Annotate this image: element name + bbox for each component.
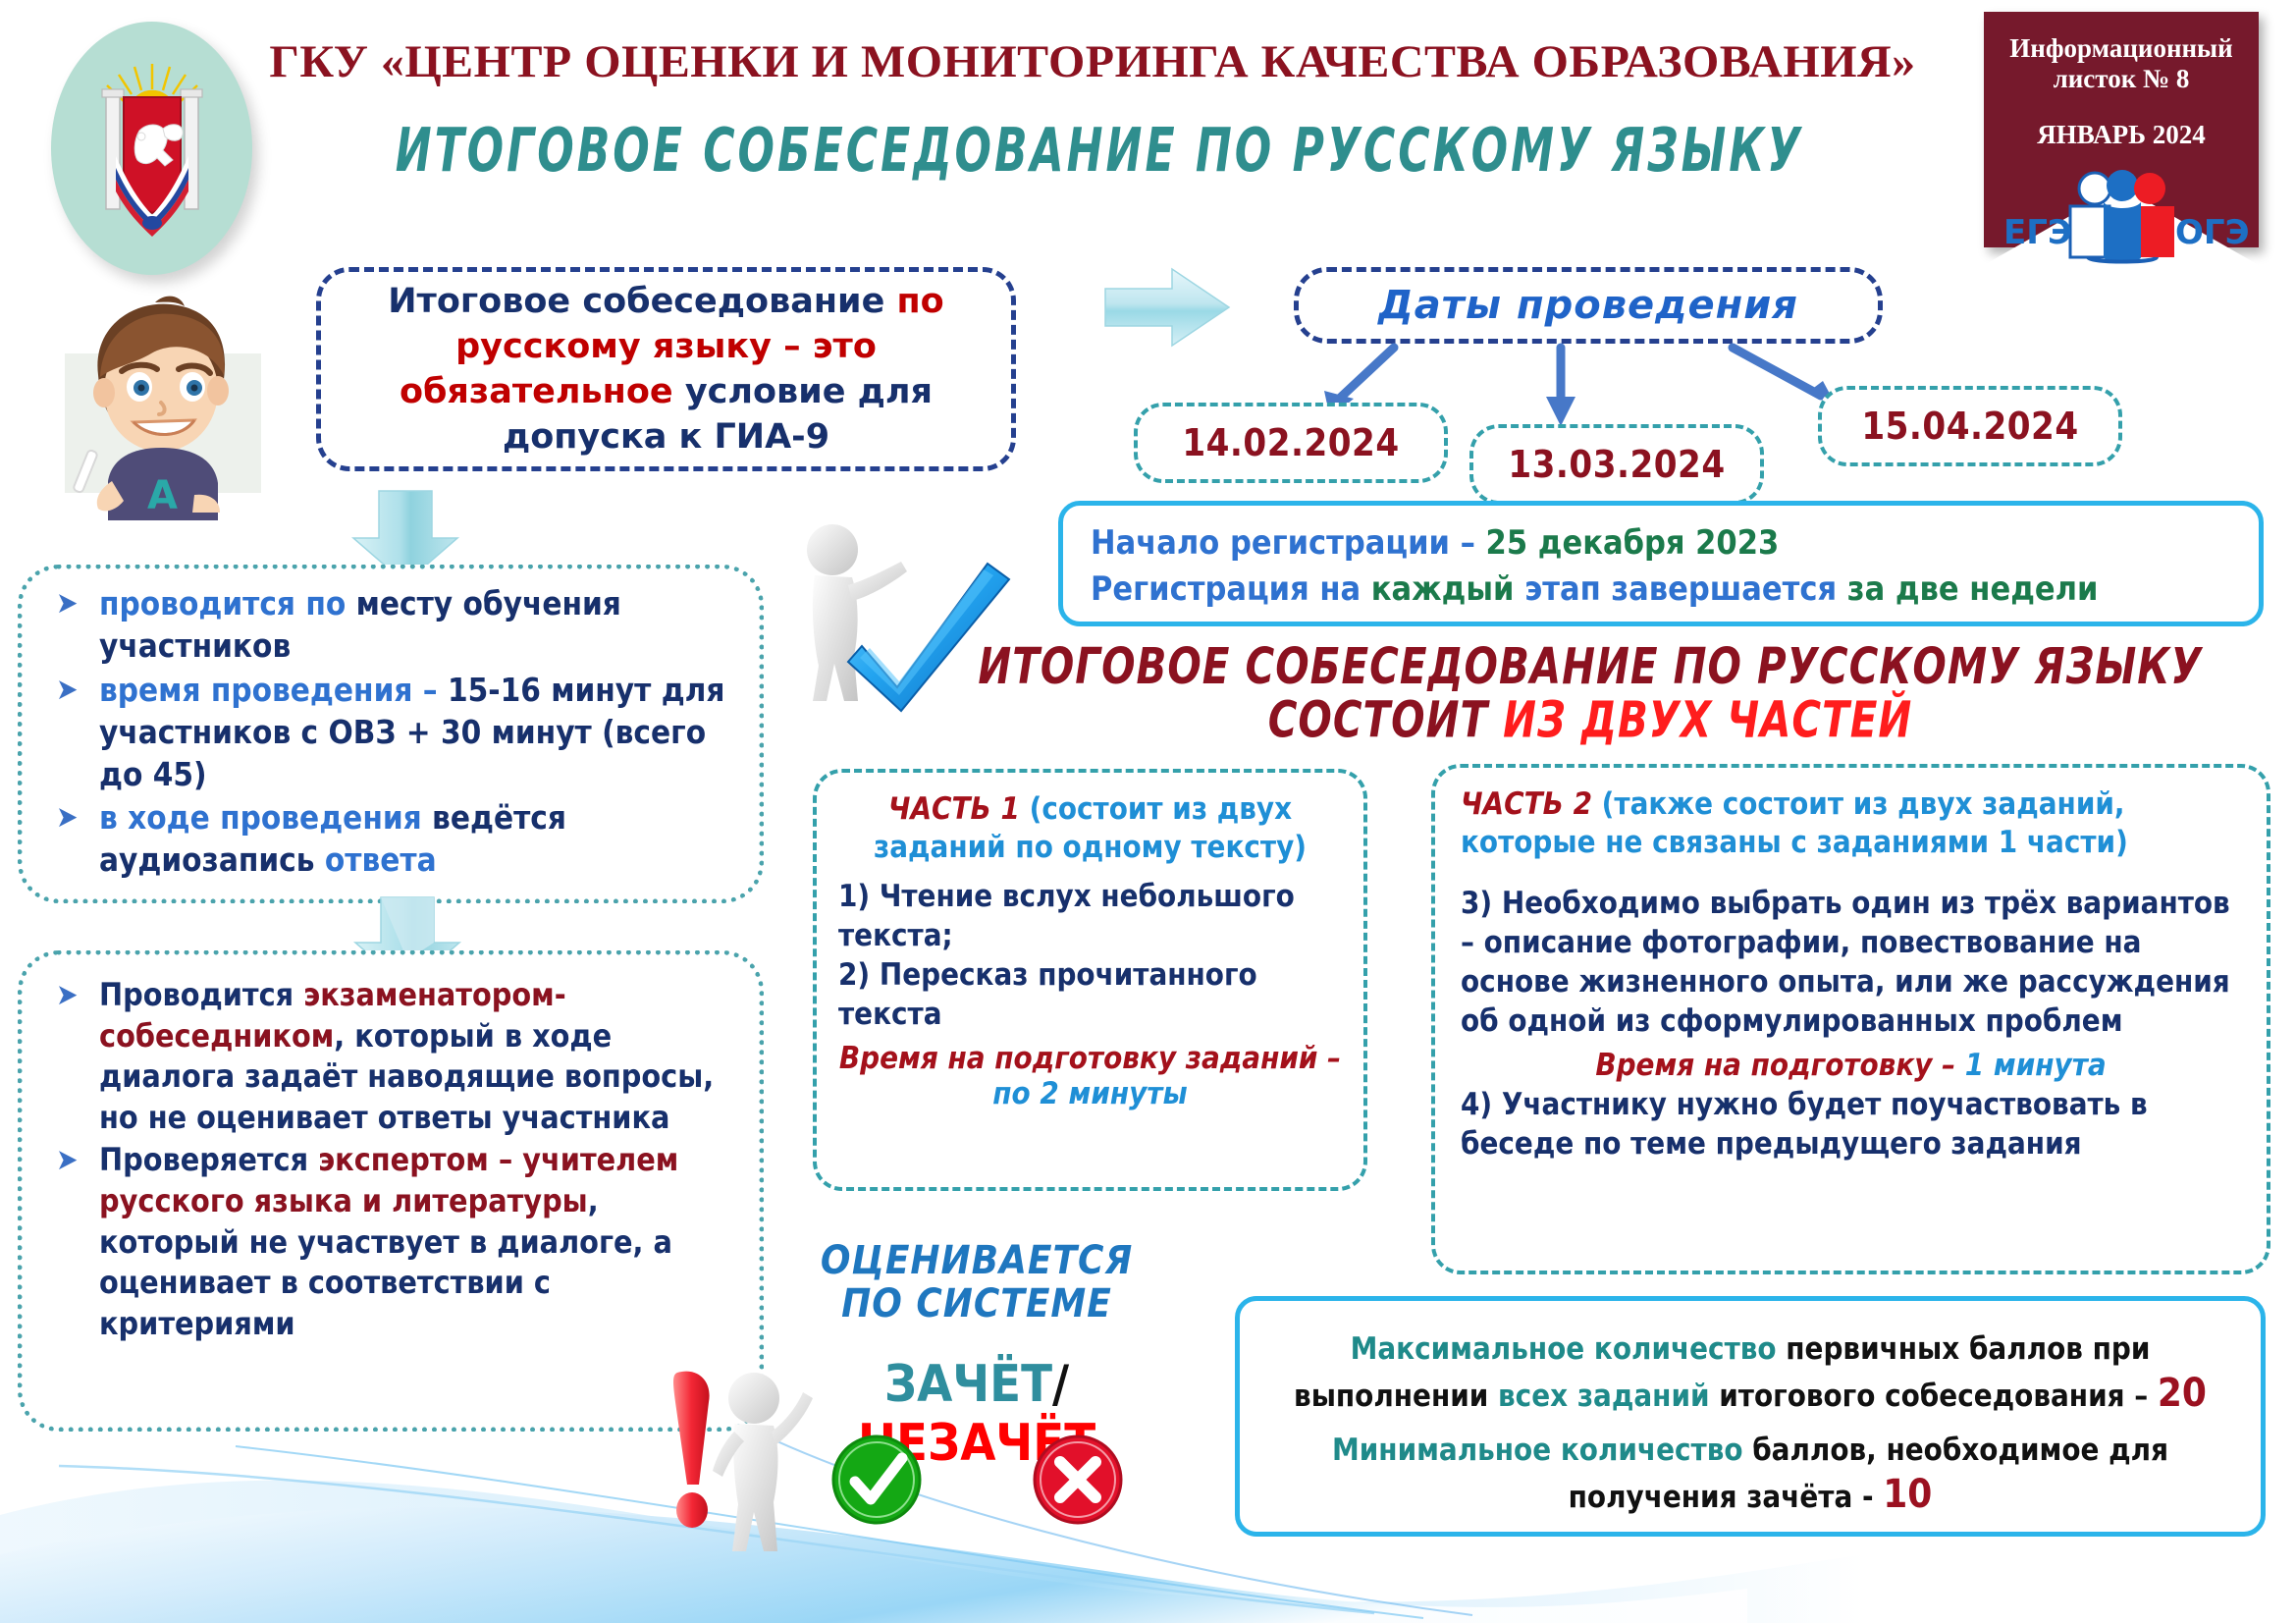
date-chip-2: 13.03.2024 [1469, 424, 1764, 505]
check-circle-icon [828, 1431, 926, 1529]
poster-root: ГКУ «ЦЕНТР ОЦЕНКИ И МОНИТОРИНГА КАЧЕСТВА… [0, 0, 2296, 1623]
list-item: ➤ время проведения – 15-16 минут для уча… [38, 670, 739, 796]
organization-title: ГКУ «ЦЕНТР ОЦЕНКИ И МОНИТОРИНГА КАЧЕСТВА… [246, 35, 1939, 88]
part2-body2: 4) Участнику нужно будет поучаствовать в… [1461, 1085, 2241, 1164]
condition-3-c: ответа [325, 840, 437, 879]
bullet-arrow-icon: ➤ [56, 976, 79, 1014]
part1-box: ЧАСТЬ 1 (состоит из двух заданий по одно… [813, 769, 1367, 1191]
right-arrow-icon [1099, 263, 1237, 352]
section-two-heading: ИТОГОВОЕ СОБЕСЕДОВАНИЕ ПО РУССКОМУ ЯЗЫКУ… [942, 640, 2238, 747]
date-value-1: 14.02.2024 [1182, 421, 1399, 464]
part2-time-a: Время на подготовку – [1595, 1048, 1964, 1083]
banner-line1: Информационный [2009, 33, 2232, 63]
reg-line1-b: 25 декабря 2023 [1486, 523, 1780, 563]
part2-title-a: ЧАСТЬ 2 [1461, 786, 1592, 822]
banner-line3: ЯНВАРЬ 2024 [1984, 120, 2259, 150]
poster-subtitle: ИТОГОВОЕ СОБЕСЕДОВАНИЕ ПО РУССКОМУ ЯЗЫКУ [294, 116, 1904, 186]
oge-label: ОГЭ [2175, 213, 2250, 252]
date-value-3: 15.04.2024 [1861, 405, 2078, 448]
assessment-separator: / [1052, 1355, 1069, 1414]
examiner-1-a: Проводится [99, 976, 303, 1013]
list-item: ➤ Проверяется экспертом – учителем русск… [38, 1140, 739, 1344]
crimea-emblem-icon [51, 22, 252, 275]
bullet-arrow-icon: ➤ [56, 584, 79, 622]
intro-text-a: Итоговое собеседование [388, 282, 896, 321]
svg-text:А: А [147, 473, 178, 518]
condition-2-a: время проведения – [99, 671, 448, 709]
ege-oge-logo-icon: ЕГЭ ОГЭ [1994, 159, 2251, 267]
bullet-arrow-icon: ➤ [56, 671, 79, 709]
part2-body: 3) Необходимо выбрать один из трёх вариа… [1461, 884, 2241, 1042]
bullet-arrow-icon: ➤ [56, 798, 79, 837]
part2-box: ЧАСТЬ 2 (также состоит из двух заданий, … [1431, 764, 2270, 1274]
reg-line2-a: Регистрация на [1091, 569, 1371, 609]
banner-line2: листок № 8 [2054, 64, 2190, 93]
student-boy-illustration: А [37, 285, 297, 545]
date-chip-1: 14.02.2024 [1134, 403, 1448, 483]
part1-body: 1) Чтение вслух небольшого текста; 2) Пе… [838, 877, 1342, 1035]
intro-box: Итоговое собеседование по русскому языку… [316, 267, 1016, 471]
dates-title: Даты проведения [1378, 283, 1798, 328]
conditions-box: ➤ проводится по месту обучения участнико… [18, 565, 764, 903]
examiner-2-a: Проверяется [99, 1141, 318, 1178]
score-box: Максимальное количество первичных баллов… [1235, 1296, 2266, 1537]
date-value-2: 13.03.2024 [1508, 443, 1725, 486]
reg-line2-d: за две недели [1847, 569, 2099, 609]
cross-circle-icon [1029, 1431, 1127, 1529]
score-max-d: итогового собеседования – [1710, 1379, 2158, 1414]
ege-label: ЕГЭ [2003, 213, 2072, 252]
assessment-pass-label: ЗАЧЁТ [884, 1355, 1052, 1414]
assessment-icons [775, 1426, 1178, 1534]
list-item: ➤ в ходе проведения ведётся аудиозапись … [38, 797, 739, 882]
date-chip-3: 15.04.2024 [1818, 386, 2122, 466]
dates-header-box: Даты проведения [1294, 267, 1883, 344]
score-min-value: 10 [1883, 1472, 1932, 1517]
list-item: ➤ проводится по месту обучения участнико… [38, 583, 739, 668]
part2-time-b: 1 минута [1965, 1048, 2107, 1083]
part1-time-a: Время на подготовку заданий – [839, 1041, 1341, 1076]
list-item: ➤ Проводится экзаменатором-собеседником,… [38, 975, 739, 1138]
reg-line1-a: Начало регистрации – [1091, 523, 1486, 563]
condition-1-a: проводится по [99, 584, 356, 622]
condition-3-a: в ходе проведения [99, 798, 432, 837]
examiner-box: ➤ Проводится экзаменатором-собеседником,… [18, 950, 764, 1432]
score-min-a: Минимальное количество [1332, 1433, 1752, 1468]
score-max-value: 20 [2158, 1371, 2207, 1416]
score-max-a: Максимальное количество [1351, 1331, 1787, 1367]
registration-box: Начало регистрации – 25 декабря 2023 Рег… [1058, 501, 2264, 626]
reg-line2-b: каждый [1371, 569, 1515, 609]
part1-title-a: ЧАСТЬ 1 [888, 791, 1020, 827]
part1-time-b: по 2 минуты [992, 1076, 1187, 1111]
bullet-arrow-icon: ➤ [56, 1141, 79, 1179]
score-max-c: всех заданий [1498, 1379, 1710, 1414]
section-two-heading-b: ИЗ ДВУХ ЧАСТЕЙ [1503, 690, 1912, 748]
reg-line2-c: этап завершается [1514, 569, 1846, 609]
assessment-title: ОЦЕНИВАЕТСЯ ПО СИСТЕМЕ [785, 1239, 1168, 1325]
